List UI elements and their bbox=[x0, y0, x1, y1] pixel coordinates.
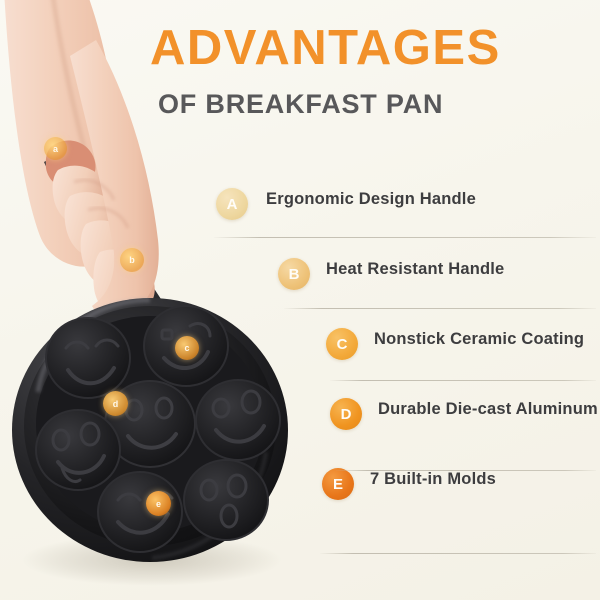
divider-after-e bbox=[320, 553, 596, 554]
infographic-canvas: a b c d e ADVANTAGES OF BREAKFAST PAN A … bbox=[0, 0, 600, 600]
feature-badge-d: D bbox=[330, 398, 362, 430]
feature-label-b: Heat Resistant Handle bbox=[326, 260, 504, 279]
divider-after-a bbox=[214, 237, 596, 238]
title-block: ADVANTAGES OF BREAKFAST PAN bbox=[150, 24, 590, 118]
feature-badge-a: A bbox=[216, 188, 248, 220]
feature-label-c: Nonstick Ceramic Coating bbox=[374, 330, 584, 349]
callout-marker-a-label: a bbox=[53, 144, 58, 154]
feature-badge-d-letter: D bbox=[341, 406, 352, 423]
feature-label-d: Durable Die-cast Aluminum bbox=[378, 400, 598, 419]
feature-list: A Ergonomic Design Handle B Heat Resista… bbox=[0, 178, 600, 528]
divider-after-b bbox=[284, 308, 596, 309]
feature-badge-a-letter: A bbox=[227, 196, 238, 213]
feature-badge-c-letter: C bbox=[337, 336, 348, 353]
feature-badge-b: B bbox=[278, 258, 310, 290]
feature-badge-e: E bbox=[322, 468, 354, 500]
feature-badge-e-letter: E bbox=[333, 476, 343, 493]
feature-row-e[interactable]: E 7 Built-in Molds bbox=[0, 458, 600, 528]
feature-row-c[interactable]: C Nonstick Ceramic Coating bbox=[0, 318, 600, 388]
feature-row-d[interactable]: D Durable Die-cast Aluminum bbox=[0, 388, 600, 458]
divider-after-d bbox=[336, 470, 596, 471]
feature-label-a: Ergonomic Design Handle bbox=[266, 190, 476, 209]
page-title: ADVANTAGES bbox=[150, 24, 590, 73]
feature-label-e: 7 Built-in Molds bbox=[370, 470, 496, 489]
feature-badge-c: C bbox=[326, 328, 358, 360]
page-subtitle: OF BREAKFAST PAN bbox=[158, 91, 590, 118]
divider-after-c bbox=[330, 380, 596, 381]
callout-marker-a[interactable]: a bbox=[44, 137, 67, 160]
feature-badge-b-letter: B bbox=[289, 266, 300, 283]
